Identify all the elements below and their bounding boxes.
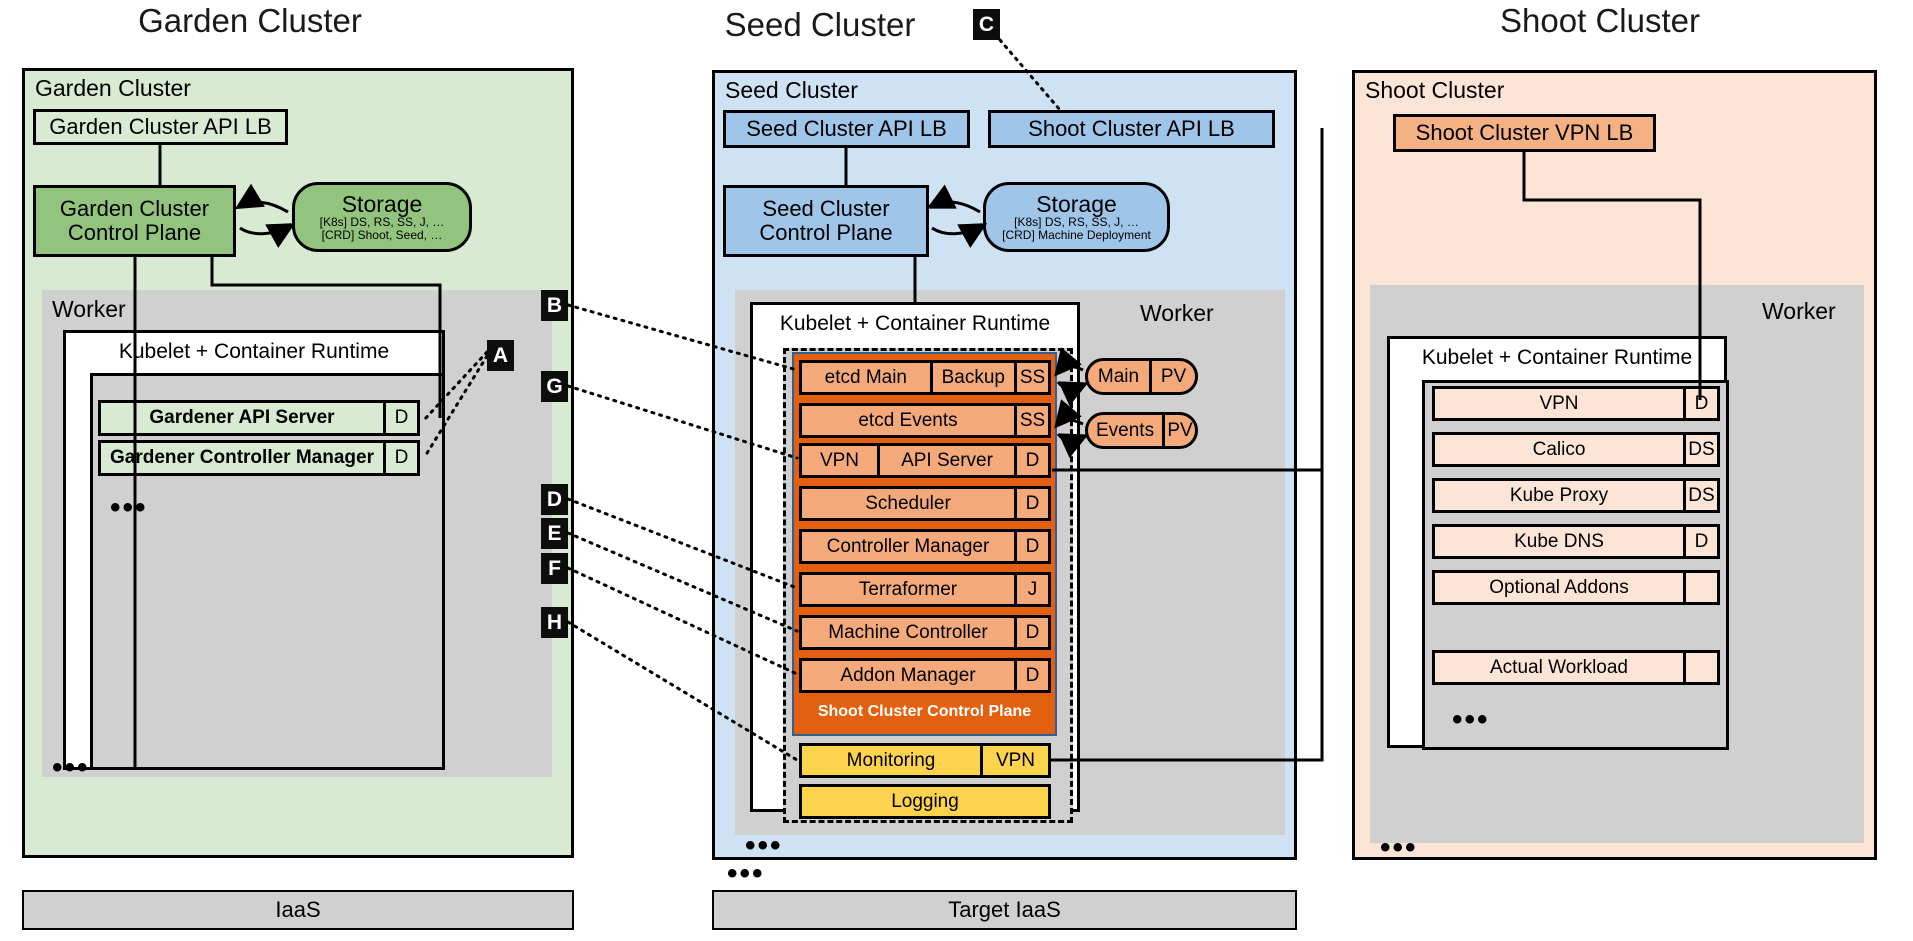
seed-pod-5-kind: J: [1014, 575, 1048, 604]
seed-pod-2-kind: D: [1014, 446, 1048, 475]
callout-badge-e: E: [541, 518, 568, 549]
seed-pod-0-kind: SS: [1014, 363, 1048, 392]
shoot-pod-kube-proxy[interactable]: Kube Proxy DS: [1432, 478, 1720, 513]
garden-worker-more: •••: [52, 760, 90, 775]
seed-volume-0-kind: PV: [1149, 361, 1195, 392]
seed-control-plane-label: Seed Cluster Control Plane: [726, 197, 926, 245]
callout-badge-h: H: [541, 607, 568, 638]
shoot-worker-more: •••: [1380, 840, 1418, 855]
shoot-cluster-title: Shoot Cluster: [1420, 2, 1780, 40]
garden-pod-0-kind: D: [383, 403, 417, 433]
garden-storage-title: Storage: [342, 192, 423, 216]
shoot-pod-2-kind: DS: [1683, 481, 1717, 510]
garden-api-lb[interactable]: Garden Cluster API LB: [33, 109, 288, 145]
garden-iaas-bar: IaaS: [22, 890, 574, 930]
shoot-worker-label: Worker: [1762, 298, 1836, 325]
shoot-cluster-label: Shoot Cluster: [1365, 77, 1504, 104]
seed-pod-6-kind: D: [1014, 618, 1048, 647]
seed-volume-0-label: Main: [1088, 361, 1149, 392]
seed-pod-4-label: Controller Manager: [802, 532, 1014, 561]
seed-pod-7-label: Addon Manager: [802, 661, 1014, 690]
garden-control-plane-label: Garden Cluster Control Plane: [36, 197, 233, 245]
seed-pod-5-label: Terraformer: [802, 575, 1014, 604]
seed-pod-2-label: API Server: [880, 446, 1014, 475]
seed-obs-1-label: Logging: [802, 787, 1048, 816]
garden-pod-gardener-controller-manager[interactable]: Gardener Controller Manager D: [98, 440, 420, 476]
seed-cluster-label: Seed Cluster: [725, 77, 858, 104]
seed-pod-2-mid: VPN: [802, 446, 880, 475]
seed-pod-1-label: etcd Events: [802, 406, 1014, 435]
garden-pod-1-kind: D: [383, 443, 417, 473]
seed-pod-addon-manager[interactable]: Addon Manager D: [799, 658, 1051, 693]
seed-pod-1-kind: SS: [1014, 406, 1048, 435]
seed-volume-main: Main PV: [1085, 358, 1198, 395]
shoot-workload-kind: [1683, 653, 1717, 682]
seed-pod-api-server[interactable]: VPN API Server D: [799, 443, 1051, 478]
seed-worker-label: Worker: [1140, 300, 1214, 327]
seed-control-plane[interactable]: Seed Cluster Control Plane: [723, 185, 929, 257]
seed-pod-etcd-events[interactable]: etcd Events SS: [799, 403, 1051, 438]
garden-storage: Storage [K8s] DS, RS, SS, J, … [CRD] Sho…: [292, 182, 472, 252]
garden-worker-label: Worker: [52, 296, 126, 323]
seed-worker-more: •••: [745, 838, 783, 853]
shoot-pod-2-label: Kube Proxy: [1435, 481, 1683, 510]
shoot-pod-actual-workload[interactable]: Actual Workload: [1432, 650, 1720, 685]
seed-pod-0-mid: Backup: [930, 363, 1014, 392]
callout-badge-g: G: [541, 371, 568, 402]
seed-pod-logging[interactable]: Logging: [799, 784, 1051, 819]
seed-pod-monitoring[interactable]: Monitoring VPN: [799, 743, 1051, 778]
seed-pod-0-label: etcd Main: [802, 363, 930, 392]
shoot-vpn-lb[interactable]: Shoot Cluster VPN LB: [1393, 114, 1656, 152]
shoot-pod-optional-addons[interactable]: Optional Addons: [1432, 570, 1720, 605]
shoot-pod-4-kind: [1683, 573, 1717, 602]
shoot-pod-0-label: VPN: [1435, 389, 1683, 418]
shoot-pod-vpn[interactable]: VPN D: [1432, 386, 1720, 421]
seed-storage-title: Storage: [1036, 192, 1117, 216]
shoot-control-plane-band-label: Shoot Cluster Control Plane: [792, 700, 1057, 724]
shoot-pod-kube-dns[interactable]: Kube DNS D: [1432, 524, 1720, 559]
seed-pod-machine-controller[interactable]: Machine Controller D: [799, 615, 1051, 650]
shoot-pod-1-label: Calico: [1435, 435, 1683, 464]
garden-cluster-title: Garden Cluster: [70, 2, 430, 40]
garden-control-plane[interactable]: Garden Cluster Control Plane: [33, 185, 236, 257]
garden-pod-gardener-api-server[interactable]: Gardener API Server D: [98, 400, 420, 436]
seed-iaas-bar: Target IaaS: [712, 890, 1297, 930]
shoot-pod-0-kind: D: [1683, 389, 1717, 418]
seed-volume-1-kind: PV: [1162, 415, 1195, 446]
garden-cluster-label: Garden Cluster: [35, 75, 191, 102]
seed-cluster-title: Seed Cluster: [640, 6, 1000, 44]
shoot-pod-calico[interactable]: Calico DS: [1432, 432, 1720, 467]
seed-cluster-more: •••: [727, 866, 765, 881]
shoot-pod-3-label: Kube DNS: [1435, 527, 1683, 556]
callout-badge-b: B: [541, 290, 568, 321]
callout-badge-a: A: [487, 340, 514, 371]
garden-pods-more: •••: [110, 500, 148, 515]
callout-badge-c: C: [973, 9, 1000, 40]
callout-badge-d: D: [541, 484, 568, 515]
seed-pod-4-kind: D: [1014, 532, 1048, 561]
seed-pod-controller-manager[interactable]: Controller Manager D: [799, 529, 1051, 564]
shoot-pod-3-kind: D: [1683, 527, 1717, 556]
shoot-workload-label: Actual Workload: [1435, 653, 1683, 682]
callout-badge-f: F: [541, 553, 568, 584]
seed-obs-0-kind: VPN: [980, 746, 1048, 775]
garden-storage-line2: [CRD] Shoot, Seed, …: [322, 229, 443, 242]
diagram-canvas: Garden Cluster Seed Cluster Shoot Cluste…: [0, 0, 1913, 941]
garden-pod-0-label: Gardener API Server: [101, 403, 383, 433]
seed-pod-etcd-main[interactable]: etcd Main Backup SS: [799, 360, 1051, 395]
seed-api-lb[interactable]: Seed Cluster API LB: [723, 110, 970, 148]
shoot-pod-1-kind: DS: [1683, 435, 1717, 464]
seed-storage-line2: [CRD] Machine Deployment: [1002, 229, 1151, 242]
seed-pod-3-label: Scheduler: [802, 489, 1014, 518]
seed-pod-terraformer[interactable]: Terraformer J: [799, 572, 1051, 607]
shoot-pods-more: •••: [1452, 712, 1490, 727]
shoot-cluster-api-lb[interactable]: Shoot Cluster API LB: [988, 110, 1275, 148]
seed-volume-1-label: Events: [1088, 415, 1162, 446]
seed-storage: Storage [K8s] DS, RS, SS, J, … [CRD] Mac…: [983, 182, 1170, 252]
seed-volume-events: Events PV: [1085, 412, 1198, 449]
shoot-pod-4-label: Optional Addons: [1435, 573, 1683, 602]
seed-pod-3-kind: D: [1014, 489, 1048, 518]
seed-pod-scheduler[interactable]: Scheduler D: [799, 486, 1051, 521]
seed-pod-7-kind: D: [1014, 661, 1048, 690]
seed-obs-0-label: Monitoring: [802, 746, 980, 775]
garden-pod-1-label: Gardener Controller Manager: [101, 443, 383, 473]
seed-pod-6-label: Machine Controller: [802, 618, 1014, 647]
